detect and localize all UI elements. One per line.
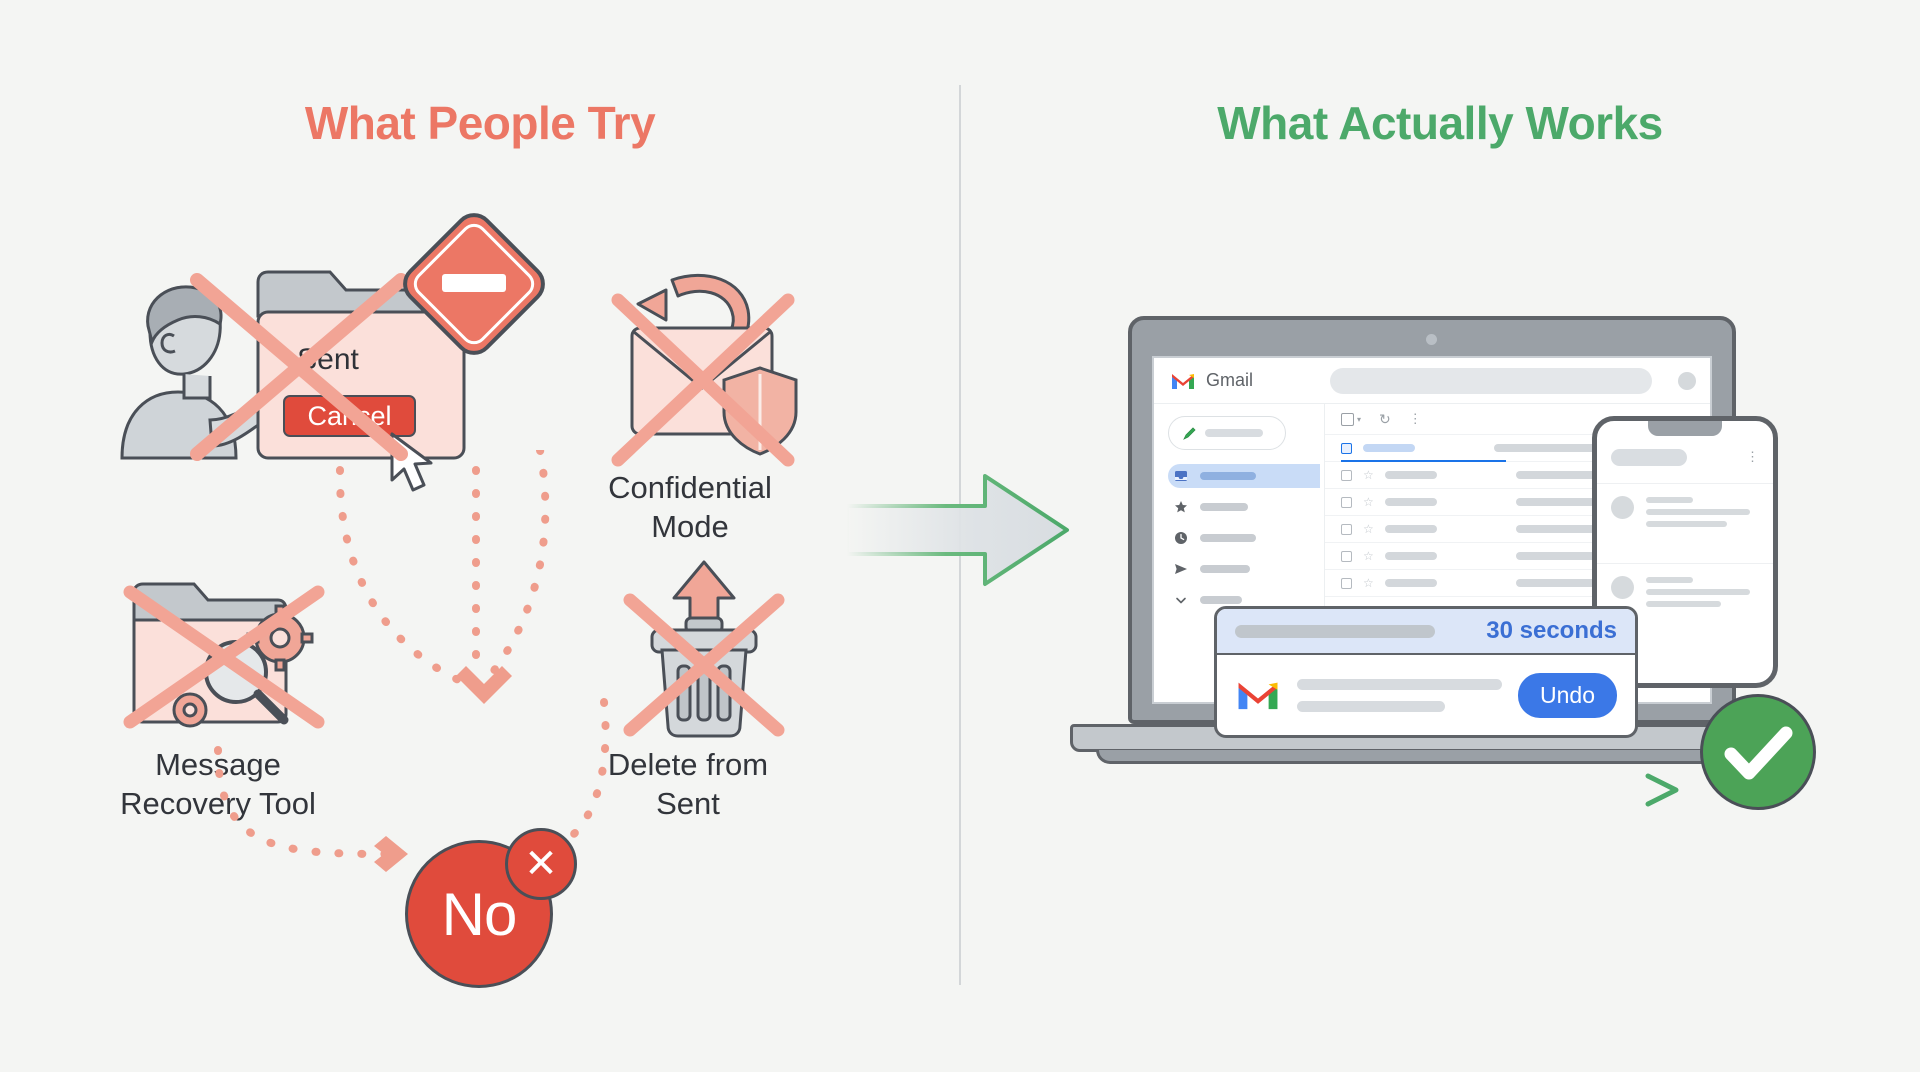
sidebar-label-placeholder (1200, 503, 1248, 511)
select-all-checkbox[interactable] (1341, 413, 1354, 426)
row-checkbox[interactable] (1341, 524, 1352, 535)
gmail-header: Gmail (1154, 358, 1710, 404)
sidebar-label-placeholder (1200, 534, 1256, 542)
clock-icon (1174, 531, 1188, 545)
undo-send-toast: 30 seconds Undo (1214, 606, 1638, 738)
refresh-icon[interactable]: ↻ (1379, 411, 1391, 428)
sidebar-label-placeholder (1200, 596, 1242, 604)
toast-text-placeholder (1297, 679, 1502, 712)
sidebar-item-starred[interactable] (1168, 495, 1320, 519)
line-placeholder (1646, 601, 1721, 607)
line-placeholder (1646, 509, 1750, 515)
row-sender (1385, 579, 1437, 587)
avatar (1611, 496, 1634, 519)
row-checkbox[interactable] (1341, 497, 1352, 508)
line-placeholder (1646, 497, 1693, 503)
infographic-canvas: What People Try What Actually Works Sent… (0, 0, 1920, 1072)
undo-timer-label: 30 seconds (1486, 617, 1617, 645)
sidebar-item-sent[interactable] (1168, 557, 1320, 581)
line-placeholder (1297, 701, 1445, 712)
page-title-right: What Actually Works (960, 96, 1920, 150)
sidebar-label-placeholder (1200, 472, 1256, 480)
page-title-left: What People Try (0, 96, 960, 150)
toast-header-placeholder (1235, 625, 1435, 638)
row-sender (1385, 471, 1437, 479)
cross-out-mark (185, 268, 415, 468)
gmail-m-logo-icon (1235, 677, 1281, 713)
star-icon[interactable]: ☆ (1363, 496, 1374, 508)
row-sender (1385, 498, 1437, 506)
star-icon[interactable]: ☆ (1363, 469, 1374, 481)
row-sender (1385, 525, 1437, 533)
check-circle-icon (1703, 697, 1813, 807)
list-item-lines (1646, 496, 1759, 527)
sidebar-label-placeholder (1200, 565, 1250, 573)
cross-out-mark (608, 290, 800, 472)
sidebar-item-inbox[interactable] (1168, 464, 1320, 488)
laptop-foot (1096, 750, 1768, 764)
toast-body: Undo (1217, 655, 1635, 735)
inbox-icon (1174, 469, 1188, 483)
star-icon (1174, 500, 1188, 514)
transition-arrow-icon (845, 470, 1085, 590)
stop-sign-icon (390, 200, 558, 368)
line-placeholder (1646, 577, 1693, 583)
gmail-m-logo-icon (1170, 371, 1196, 391)
undo-button[interactable]: Undo (1518, 673, 1617, 718)
avatar[interactable] (1678, 372, 1696, 390)
compose-button[interactable] (1168, 416, 1286, 450)
list-item[interactable] (1597, 563, 1773, 607)
chevron-down-icon[interactable]: ▾ (1357, 415, 1361, 424)
verdict-no-label: No (442, 880, 517, 949)
search-input[interactable] (1330, 368, 1652, 394)
chevron-down-icon (1174, 593, 1188, 607)
list-item-lines (1646, 576, 1759, 607)
success-check-badge (1700, 694, 1816, 810)
sidebar-item-snoozed[interactable] (1168, 526, 1320, 550)
row-checkbox[interactable] (1341, 551, 1352, 562)
line-placeholder (1646, 521, 1727, 527)
star-icon[interactable]: ☆ (1363, 550, 1374, 562)
row-sender (1385, 552, 1437, 560)
more-vertical-icon[interactable]: ⋮ (1746, 451, 1759, 462)
avatar (1611, 576, 1634, 599)
x-mark-icon: ✕ (505, 828, 577, 900)
row-checkbox[interactable] (1341, 470, 1352, 481)
row-checkbox[interactable] (1341, 443, 1352, 454)
progress-arrow-icon (1100, 770, 1700, 810)
line-placeholder (1297, 679, 1502, 690)
row-sender (1363, 444, 1415, 452)
phone-notch (1648, 421, 1722, 436)
row-checkbox[interactable] (1341, 578, 1352, 589)
phone-search-input[interactable] (1611, 449, 1687, 466)
gmail-wordmark: Gmail (1206, 370, 1253, 391)
more-vertical-icon[interactable]: ⋮ (1409, 416, 1422, 422)
compose-label-placeholder (1205, 429, 1263, 437)
toast-header: 30 seconds (1217, 609, 1635, 655)
star-icon[interactable]: ☆ (1363, 523, 1374, 535)
line-placeholder (1646, 589, 1750, 595)
send-icon (1174, 562, 1188, 576)
gmail-brand: Gmail (1154, 370, 1324, 391)
list-item[interactable] (1597, 483, 1773, 527)
laptop-camera-icon (1426, 334, 1437, 345)
star-icon[interactable]: ☆ (1363, 577, 1374, 589)
pencil-icon (1183, 426, 1197, 440)
